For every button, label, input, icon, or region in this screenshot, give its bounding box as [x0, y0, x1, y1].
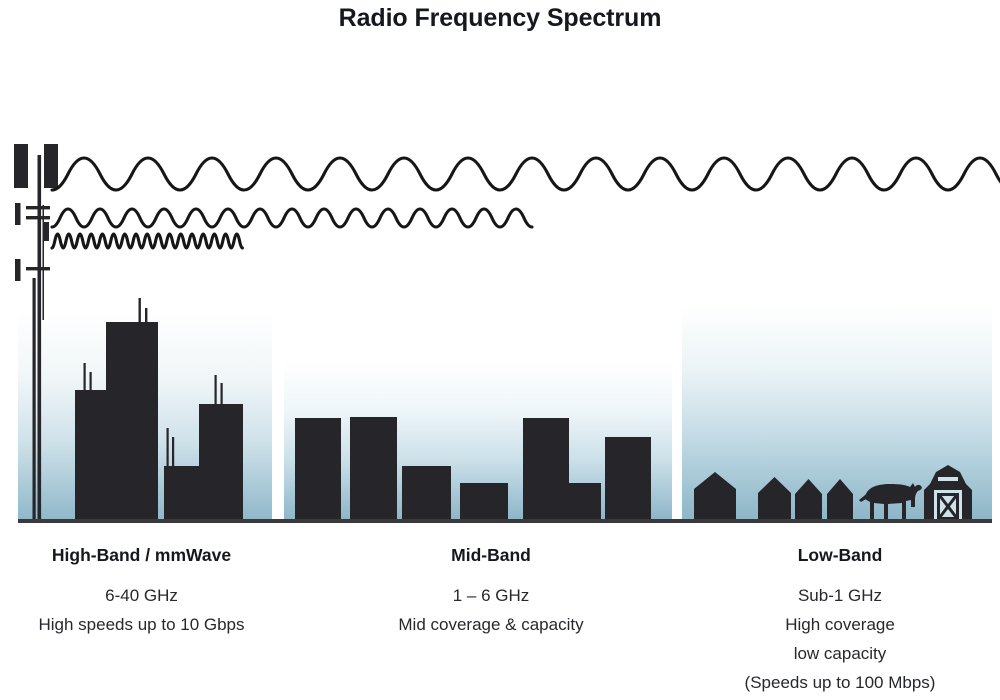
- skyscraper-antenna: [215, 375, 217, 405]
- midrise-building: [605, 437, 651, 520]
- skyscraper: [164, 466, 199, 520]
- skyscraper-antenna: [84, 363, 86, 393]
- midrise-building: [295, 418, 341, 520]
- spectrum-svg: [0, 0, 1000, 540]
- band-detail-high-0: High speeds up to 10 Gbps: [0, 610, 283, 639]
- band-detail-low-0: High coverage: [680, 610, 1000, 639]
- band-detail-low-1: low capacity: [680, 639, 1000, 668]
- tower-side-antenna-2: [15, 259, 21, 281]
- radio-frequency-spectrum-infographic: Radio Frequency Spectrum: [0, 0, 1000, 700]
- tower-mast: [38, 155, 42, 520]
- tower-mast-thin: [43, 205, 45, 320]
- midrise-building: [460, 483, 508, 520]
- wave-high-band: [52, 234, 242, 248]
- caption-high-band: High-Band / mmWave 6-40 GHz High speeds …: [0, 544, 283, 639]
- midrise-building: [523, 418, 569, 520]
- ground-line: [18, 519, 992, 523]
- midrise-building: [350, 417, 397, 520]
- skyscraper: [106, 322, 158, 520]
- spectrum-illustration: [0, 0, 1000, 540]
- tower-side-antenna-1: [15, 203, 21, 225]
- tower-mast-secondary: [33, 278, 36, 520]
- tower-crossarm-3: [26, 267, 50, 270]
- wave-mid-band: [52, 209, 532, 227]
- band-name-high: High-Band / mmWave: [0, 544, 283, 566]
- band-captions: High-Band / mmWave 6-40 GHz High speeds …: [0, 544, 1000, 700]
- skyscraper: [199, 404, 243, 520]
- radio-waves: [52, 158, 1000, 248]
- band-detail-low-2: (Speeds up to 100 Mbps): [680, 668, 1000, 697]
- tower-antenna-panel-left: [14, 144, 28, 188]
- skyscraper-antenna: [167, 428, 169, 468]
- midrise-building: [569, 483, 601, 520]
- skyscraper-antenna: [221, 383, 223, 405]
- tower-crossarm-2: [26, 216, 50, 219]
- band-name-mid: Mid-Band: [330, 544, 652, 566]
- skyscraper-antenna: [139, 298, 141, 326]
- tower-side-antenna-3: [44, 222, 49, 241]
- wave-low-band: [52, 158, 1000, 190]
- band-name-low: Low-Band: [680, 544, 1000, 566]
- midrise-building: [402, 466, 451, 520]
- skyscraper: [75, 390, 106, 520]
- caption-low-band: Low-Band Sub-1 GHz High coverage low cap…: [680, 544, 1000, 697]
- tower-crossarm-1: [26, 206, 50, 209]
- caption-mid-band: Mid-Band 1 – 6 GHz Mid coverage & capaci…: [330, 544, 652, 639]
- band-frequency-high: 6-40 GHz: [0, 581, 283, 610]
- band-detail-mid-0: Mid coverage & capacity: [330, 610, 652, 639]
- tower-antenna-panel-right: [44, 144, 58, 188]
- band-frequency-low: Sub-1 GHz: [680, 581, 1000, 610]
- skyscraper-antenna: [172, 437, 174, 468]
- band-frequency-mid: 1 – 6 GHz: [330, 581, 652, 610]
